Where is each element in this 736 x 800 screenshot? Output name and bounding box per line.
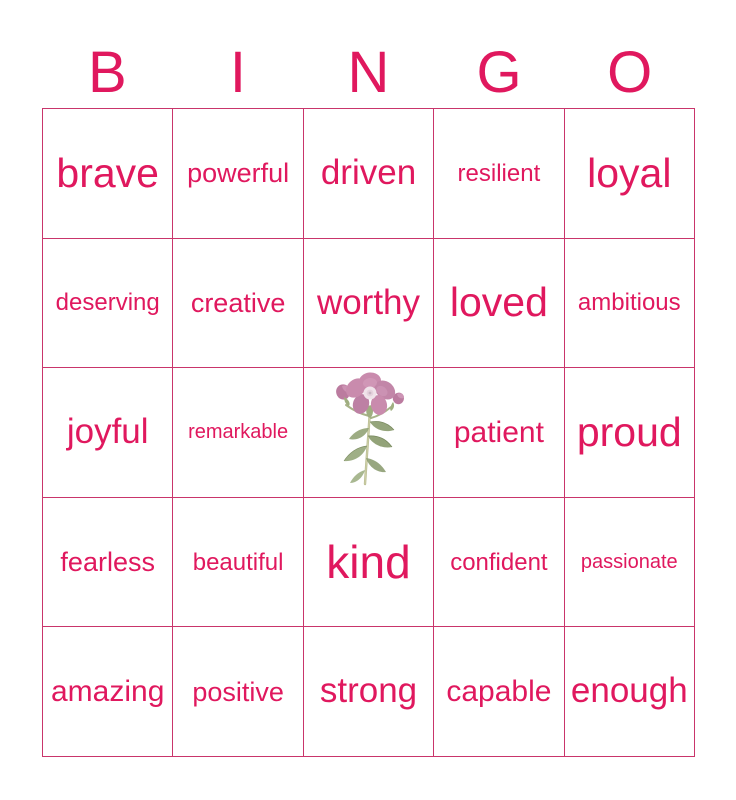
bingo-cell-label: loved — [450, 281, 548, 324]
bingo-cell[interactable]: driven — [304, 109, 434, 239]
header-letter-g: G — [477, 44, 522, 102]
bingo-cell-label: strong — [320, 673, 417, 710]
bingo-cell[interactable]: beautiful — [173, 498, 303, 628]
bingo-cell[interactable]: remarkable — [173, 368, 303, 498]
bingo-cell-label: resilient — [458, 161, 541, 186]
bingo-cell[interactable]: loyal — [565, 109, 695, 239]
bingo-cell-label: ambitious — [578, 290, 681, 315]
bingo-cell-label: kind — [326, 538, 410, 586]
bingo-cell[interactable]: strong — [304, 627, 434, 757]
bingo-cell-label: powerful — [187, 159, 289, 187]
bingo-cell[interactable]: joyful — [43, 368, 173, 498]
bingo-cell[interactable]: brave — [43, 109, 173, 239]
header-letter-i: I — [230, 44, 246, 102]
bingo-cell[interactable]: positive — [173, 627, 303, 757]
header-cell-n: N — [303, 36, 434, 102]
bingo-cell-label: fearless — [60, 548, 155, 576]
bingo-card: B I N G O brave powerful driven resilien… — [0, 0, 736, 800]
bingo-header: B I N G O — [42, 36, 695, 102]
bingo-cell[interactable]: loved — [434, 239, 564, 369]
header-cell-o: O — [564, 36, 695, 102]
bingo-cell-label: confident — [450, 550, 547, 575]
bingo-cell-label: beautiful — [193, 550, 284, 575]
bingo-cell-label: positive — [192, 678, 284, 706]
flower-illustration-icon — [325, 372, 411, 492]
bingo-cell[interactable]: proud — [565, 368, 695, 498]
bingo-cell[interactable]: creative — [173, 239, 303, 369]
bingo-cell[interactable]: deserving — [43, 239, 173, 369]
bingo-cell[interactable]: ambitious — [565, 239, 695, 369]
header-letter-n: N — [348, 44, 390, 102]
bingo-cell-label: deserving — [56, 290, 160, 315]
bingo-free-space-cell[interactable] — [304, 368, 434, 498]
bingo-cell-label: loyal — [587, 152, 671, 195]
bingo-cell[interactable]: fearless — [43, 498, 173, 628]
bingo-cell[interactable]: confident — [434, 498, 564, 628]
bingo-cell[interactable]: patient — [434, 368, 564, 498]
bingo-cell-label: driven — [321, 155, 416, 192]
bingo-cell[interactable]: powerful — [173, 109, 303, 239]
header-letter-b: B — [88, 44, 127, 102]
bingo-cell[interactable]: resilient — [434, 109, 564, 239]
bingo-cell-label: brave — [56, 152, 159, 195]
bingo-cell[interactable]: capable — [434, 627, 564, 757]
bingo-cell-label: amazing — [51, 676, 164, 708]
bingo-cell-label: passionate — [581, 552, 678, 573]
header-letter-o: O — [607, 44, 652, 102]
bingo-cell-label: enough — [571, 673, 688, 710]
bingo-cell-label: proud — [577, 411, 682, 454]
bingo-cell-label: remarkable — [188, 422, 288, 443]
bingo-cell-label: worthy — [317, 285, 420, 322]
bingo-cell[interactable]: amazing — [43, 627, 173, 757]
bingo-grid: brave powerful driven resilient loyal de… — [42, 108, 695, 757]
bingo-cell[interactable]: worthy — [304, 239, 434, 369]
bingo-cell[interactable]: passionate — [565, 498, 695, 628]
bingo-cell-label: creative — [191, 289, 286, 317]
bingo-cell-label: joyful — [67, 414, 149, 451]
header-cell-g: G — [434, 36, 565, 102]
bingo-cell[interactable]: enough — [565, 627, 695, 757]
header-cell-b: B — [42, 36, 173, 102]
bingo-cell-label: patient — [454, 417, 544, 449]
header-cell-i: I — [173, 36, 304, 102]
bingo-cell-label: capable — [446, 676, 551, 708]
bingo-cell[interactable]: kind — [304, 498, 434, 628]
